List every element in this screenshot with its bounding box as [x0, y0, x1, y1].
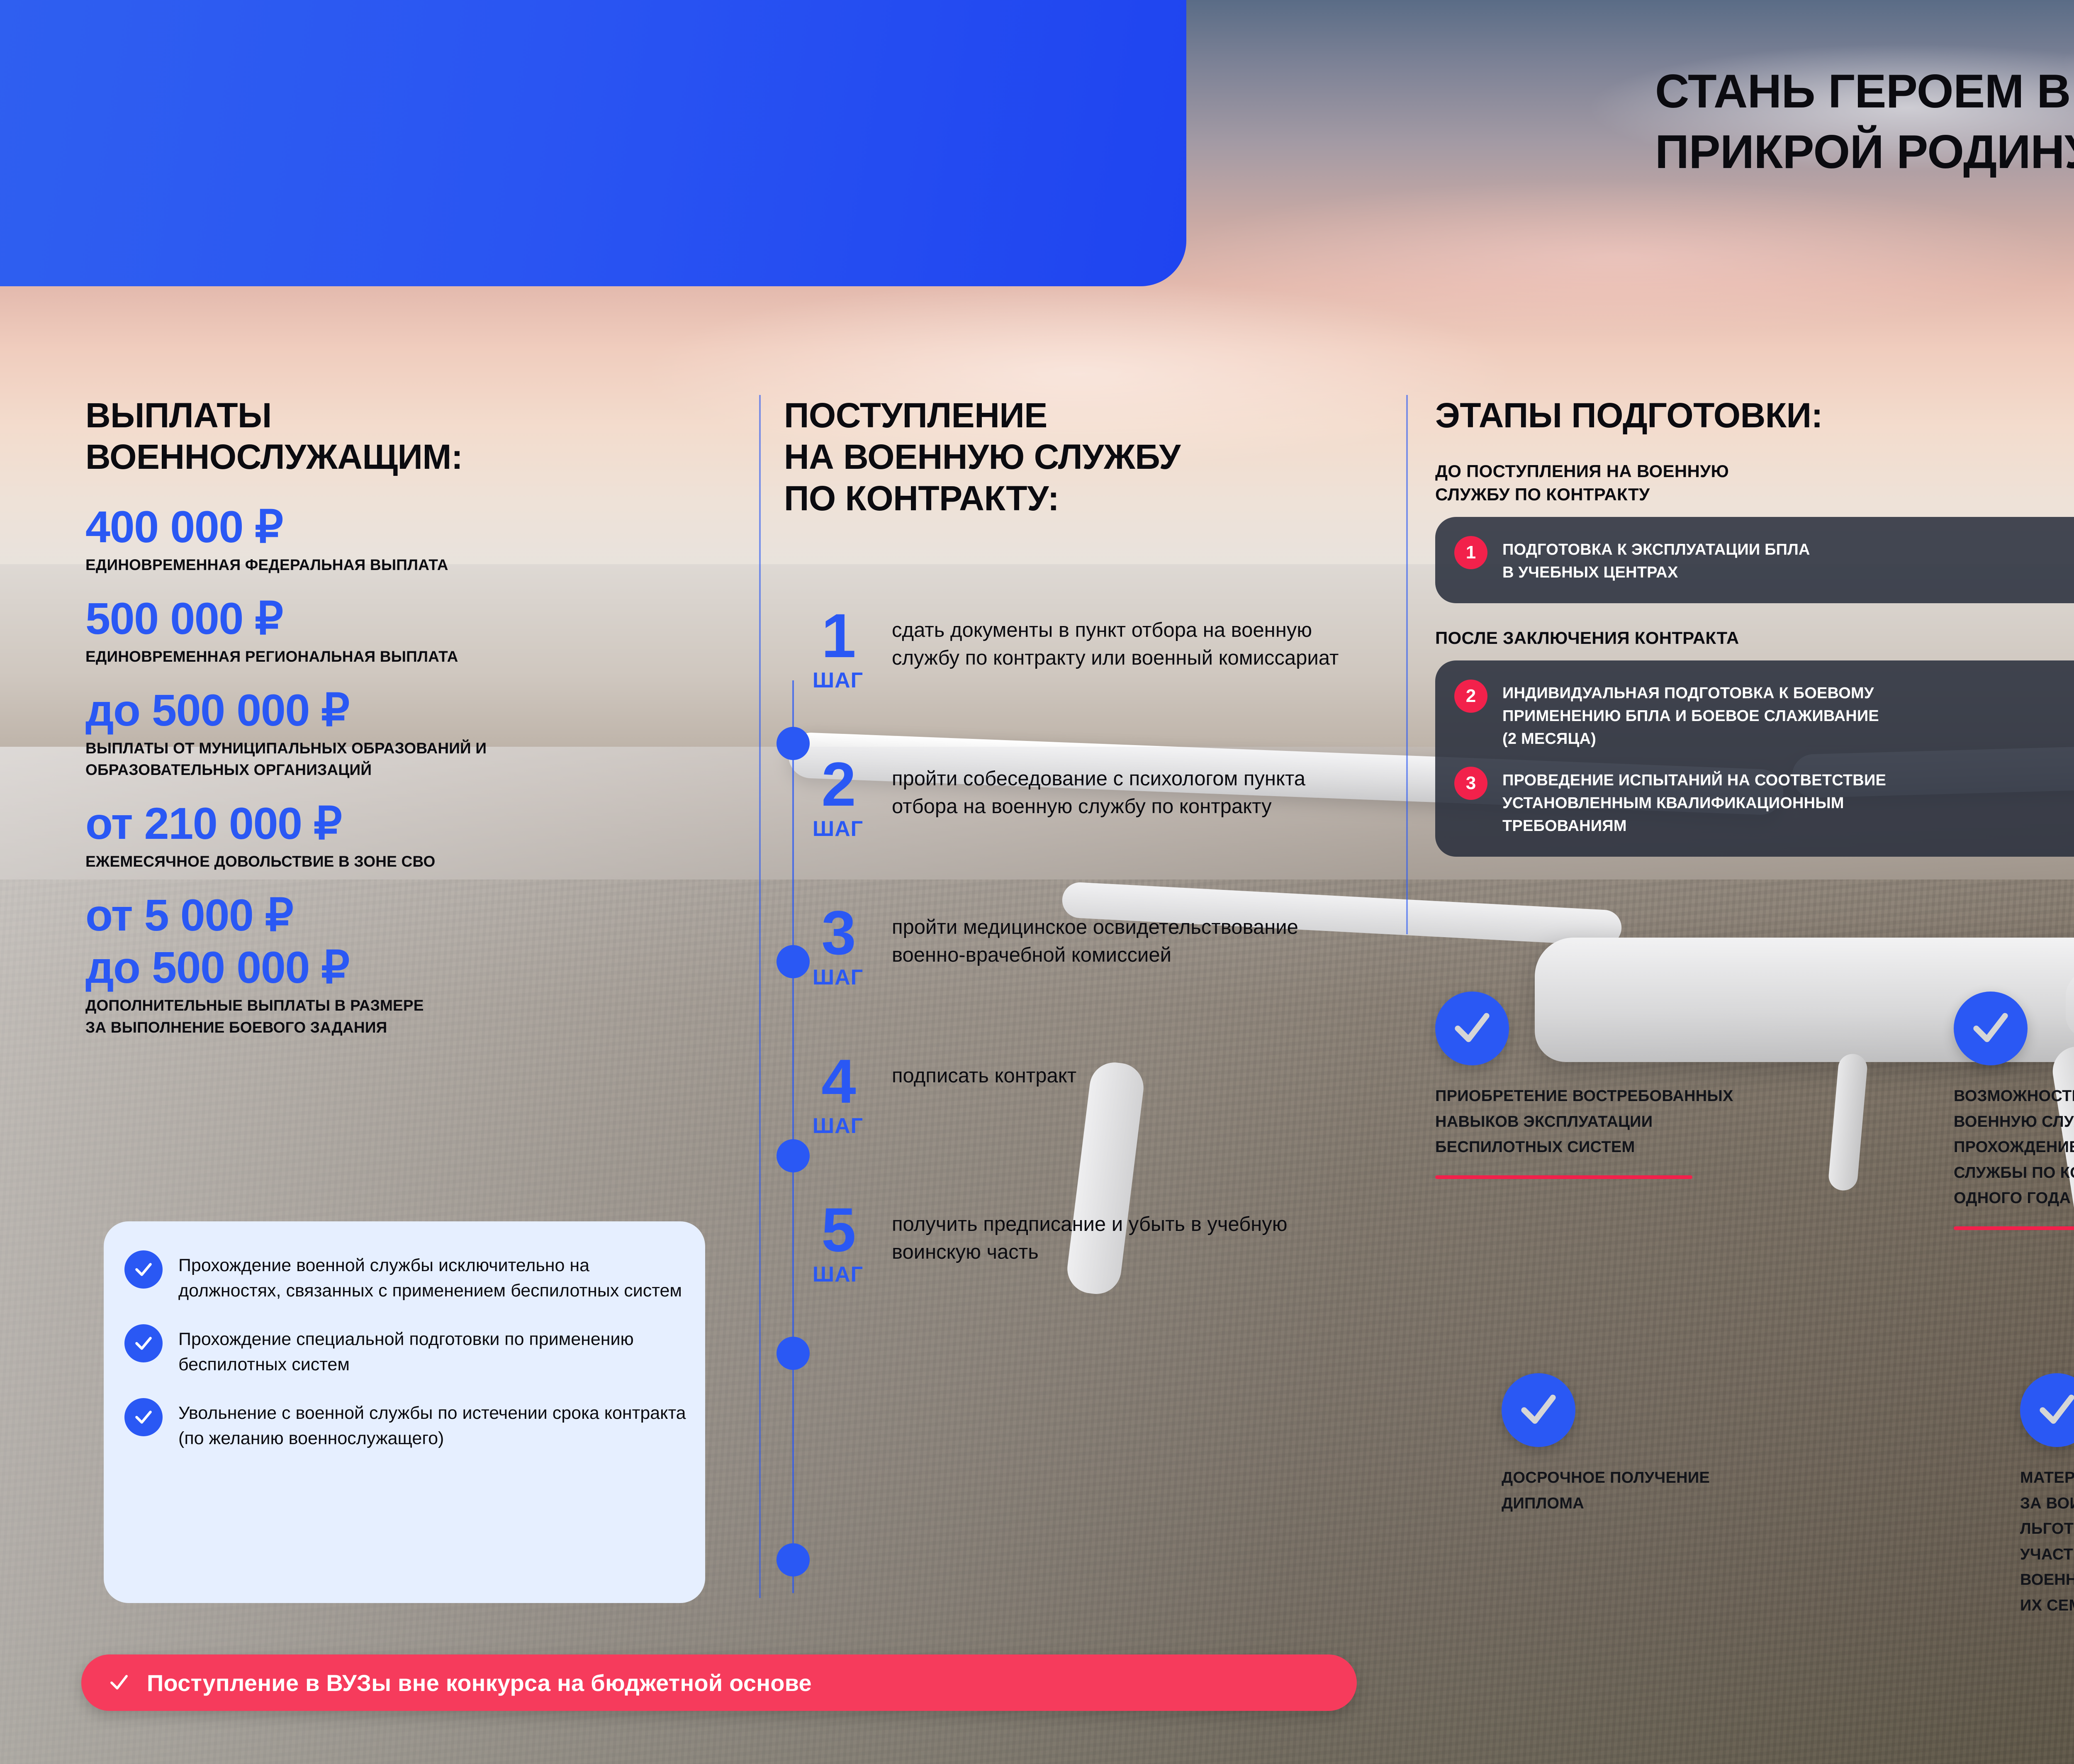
benefit-text-line: ВОЕННУЮ СЛУЖБУ ПО ПРИЗЫВУ: [1954, 1109, 2074, 1135]
enrollment-title-line-1: ПОСТУПЛЕНИЕ: [784, 395, 1348, 436]
benefit-rule: [1435, 1175, 1692, 1179]
stage-text: ПОДГОТОВКА К ЭКСПЛУАТАЦИИ БпЛА В УЧЕБНЫХ…: [1502, 536, 1810, 584]
payment-amount: 500 000 ₽: [85, 595, 708, 642]
benefit-text-line: УЧАСТНИКАМ СПЕЦИАЛЬНОЙ: [2020, 1542, 2074, 1568]
step-item: 4 ШАГ подписать контракт: [784, 1051, 1365, 1138]
tagline-line-1: СТАНЬ ГЕРОЕМ В РЕАЛЬНОЙ ЖИЗНИ!: [1655, 61, 2074, 122]
step-text: пройти собеседование с психологом пункта…: [892, 754, 1365, 820]
check-icon: [124, 1398, 163, 1436]
benefit-text-line: ОДНОГО ГОДА: [1954, 1186, 2074, 1211]
check-icon: [2020, 1373, 2074, 1447]
stage-number-badge: 3: [1454, 767, 1487, 800]
training-before-heading: ДО ПОСТУПЛЕНИЯ НА ВОЕННУЮ СЛУЖБУ ПО КОНТ…: [1435, 460, 2074, 507]
payment-description: ЕДИНОВРЕМЕННАЯ РЕГИОНАЛЬНАЯ ВЫПЛАТА: [85, 646, 708, 668]
payment-description: ДОПОЛНИТЕЛЬНЫЕ ВЫПЛАТЫ В РАЗМЕРЕ ЗА ВЫПО…: [85, 995, 708, 1038]
column-divider: [1406, 395, 1408, 934]
step-word: ШАГ: [784, 668, 892, 693]
training-before-heading-line-1: ДО ПОСТУПЛЕНИЯ НА ВОЕННУЮ: [1435, 460, 2074, 483]
tagline: СТАНЬ ГЕРОЕМ В РЕАЛЬНОЙ ЖИЗНИ! ПРИКРОЙ Р…: [1655, 61, 2074, 183]
benefit-item: ПРИОБРЕТЕНИЕ ВОСТРЕБОВАННЫХ НАВЫКОВ ЭКСП…: [1435, 992, 1833, 1179]
payment-item: до 500 000 ₽ ВЫПЛАТЫ ОТ МУНИЦИПАЛЬНЫХ ОБ…: [85, 687, 708, 781]
step-number: 4: [784, 1051, 892, 1111]
stage-text-line: ПРОВЕДЕНИЕ ИСПЫТАНИЙ НА СООТВЕТСТВИЕ: [1502, 769, 1886, 792]
stage-text: ИНДИВИДУАЛЬНАЯ ПОДГОТОВКА К БОЕВОМУ ПРИМ…: [1502, 680, 1879, 750]
step-word: ШАГ: [784, 816, 892, 841]
payment-amount: от 210 000 ₽: [85, 800, 708, 847]
benefit-text: ДОСРОЧНОЕ ПОЛУЧЕНИЕ ДИПЛОМА: [1502, 1465, 1900, 1516]
benefit-text-line: СЛУЖБЫ ПО КОНТРАКТУ В ТЕЧЕНИЕ: [1954, 1160, 2074, 1186]
condition-item: Увольнение с военной службы по истечении…: [124, 1398, 689, 1451]
stage-number-badge: 1: [1454, 536, 1487, 569]
benefit-text-line: ЛЬГОТЫ, ПРЕДОСТАВЛЯЕМЫЕ: [2020, 1516, 2074, 1542]
stage-text-line: ПОДГОТОВКА К ЭКСПЛУАТАЦИИ БпЛА: [1502, 538, 1810, 561]
benefit-text-line: ПРОХОЖДЕНИЕМ ВОЕННОЙ: [1954, 1135, 2074, 1160]
benefit-text-line: ДИПЛОМА: [1502, 1491, 1900, 1517]
training-before-card: 1 ПОДГОТОВКА К ЭКСПЛУАТАЦИИ БпЛА В УЧЕБН…: [1435, 517, 2074, 603]
check-icon: [124, 1250, 163, 1289]
conditions-list: Прохождение военной службы исключительно…: [124, 1250, 689, 1472]
check-icon: [1502, 1373, 1575, 1447]
column-divider: [759, 395, 761, 1598]
payment-item: 500 000 ₽ ЕДИНОВРЕМЕННАЯ РЕГИОНАЛЬНАЯ ВЫ…: [85, 595, 708, 668]
stage-number-badge: 2: [1454, 680, 1487, 713]
condition-item: Прохождение специальной подготовки по пр…: [124, 1324, 689, 1377]
payment-description-line: ВЫПЛАТЫ ОТ МУНИЦИПАЛЬНЫХ ОБРАЗОВАНИЙ И: [85, 738, 708, 760]
stage-text-line: ИНДИВИДУАЛЬНАЯ ПОДГОТОВКА К БОЕВОМУ: [1502, 682, 1879, 705]
benefit-rule: [1954, 1226, 2074, 1230]
training-before-heading-line-2: СЛУЖБУ ПО КОНТРАКТУ: [1435, 483, 2074, 506]
condition-text: Увольнение с военной службы по истечении…: [178, 1398, 689, 1451]
stage-text-line: ПРИМЕНЕНИЮ БпЛА И БОЕВОЕ СЛАЖИВАНИЕ: [1502, 705, 1879, 728]
poster-root: СЛУЖБА В ВОЙСКАХ БЕСПИЛОТНЫХ СИСТЕМ СТАН…: [0, 0, 2074, 1764]
payments-title-line-2: ВОЕННОСЛУЖАЩИМ:: [85, 436, 708, 478]
header-banner: [0, 0, 1186, 286]
tagline-line-2: ПРИКРОЙ РОДИНУ СВОИМ КРЫЛОМ!: [1655, 122, 2074, 183]
step-badge: 5 ШАГ: [784, 1200, 892, 1287]
payment-description-line: ЕДИНОВРЕМЕННАЯ РЕГИОНАЛЬНАЯ ВЫПЛАТА: [85, 648, 458, 665]
payments-title: ВЫПЛАТЫ ВОЕННОСЛУЖАЩИМ:: [85, 395, 708, 478]
benefit-text-line: НАВЫКОВ ЭКСПЛУАТАЦИИ: [1435, 1109, 1833, 1135]
payments-title-line-1: ВЫПЛАТЫ: [85, 395, 708, 436]
stage-text-line: (2 МЕСЯЦА): [1502, 728, 1879, 750]
stage-text-line: В УЧЕБНЫХ ЦЕНТРАХ: [1502, 561, 1810, 584]
payment-item: от 210 000 ₽ ЕЖЕМЕСЯЧНОЕ ДОВОЛЬСТВИЕ В З…: [85, 800, 708, 873]
benefit-text: ПРИОБРЕТЕНИЕ ВОСТРЕБОВАННЫХ НАВЫКОВ ЭКСП…: [1435, 1084, 1833, 1160]
payment-item: от 5 000 ₽: [85, 892, 708, 938]
benefit-text-line: БЕСПИЛОТНЫХ СИСТЕМ: [1435, 1135, 1833, 1160]
step-text: получить предписание и убыть в учебную в…: [892, 1200, 1365, 1266]
training-stage-item: 3 ПРОВЕДЕНИЕ ИСПЫТАНИЙ НА СООТВЕТСТВИЕ У…: [1454, 767, 2074, 837]
bottom-banner-text: Поступление в ВУЗы вне конкурса на бюдже…: [147, 1669, 812, 1696]
payment-description-line: ОБРАЗОВАТЕЛЬНЫХ ОРГАНИЗАЦИЙ: [85, 759, 708, 781]
step-text: подписать контракт: [892, 1051, 1365, 1090]
payment-description-line: ЗА ВЫПОЛНЕНИЕ БОЕВОГО ЗАДАНИЯ: [85, 1017, 708, 1039]
training-after-card: 2 ИНДИВИДУАЛЬНАЯ ПОДГОТОВКА К БОЕВОМУ ПР…: [1435, 660, 2074, 856]
stage-text-line: УСТАНОВЛЕННЫМ КВАЛИФИКАЦИОННЫМ: [1502, 792, 1886, 815]
timeline-dot: [777, 1543, 810, 1576]
benefit-text-line: ВОЗМОЖНОСТЬ ЗАМЕНИТЬ: [1954, 1084, 2074, 1109]
condition-text: Прохождение специальной подготовки по пр…: [178, 1324, 689, 1377]
step-number: 2: [784, 754, 892, 814]
payment-description-line: ЕДИНОВРЕМЕННАЯ ФЕДЕРАЛЬНАЯ ВЫПЛАТА: [85, 556, 448, 573]
step-number: 1: [784, 606, 892, 665]
step-text: пройти медицинское освидетельствование в…: [892, 903, 1365, 969]
benefit-text-line: ВОЕННОЙ ОПЕРАЦИИИ ЧЛЕНАМ: [2020, 1567, 2074, 1593]
training-after-heading: ПОСЛЕ ЗАКЛЮЧЕНИЯ КОНТРАКТА: [1435, 626, 2074, 650]
condition-text: Прохождение военной службы исключительно…: [178, 1250, 689, 1304]
check-icon: [1954, 992, 2028, 1065]
steps-list: 1 ШАГ сдать документы в пункт отбора на …: [784, 606, 1365, 1287]
payment-amount: от 5 000 ₽: [85, 892, 708, 938]
check-icon: [1435, 992, 1509, 1065]
payment-description-line: ЕЖЕМЕСЯЧНОЕ ДОВОЛЬСТВИЕ В ЗОНЕ СВО: [85, 853, 435, 870]
step-text: сдать документы в пункт отбора на военну…: [892, 606, 1365, 672]
payment-amount: до 500 000 ₽: [85, 944, 708, 991]
stage-text-line: ТРЕБОВАНИЯМ: [1502, 815, 1886, 838]
enrollment-title: ПОСТУПЛЕНИЕ НА ВОЕННУЮ СЛУЖБУ ПО КОНТРАК…: [784, 395, 1348, 519]
payments-list: 400 000 ₽ ЕДИНОВРЕМЕННАЯ ФЕДЕРАЛЬНАЯ ВЫП…: [85, 504, 708, 1039]
benefit-text-line: ЗА ВОИНСКИЙ ТРУД, А ТАКЖЕ: [2020, 1491, 2074, 1517]
step-badge: 3 ШАГ: [784, 903, 892, 990]
payment-description-line: ДОПОЛНИТЕЛЬНЫЕ ВЫПЛАТЫ В РАЗМЕРЕ: [85, 995, 708, 1017]
step-word: ШАГ: [784, 1262, 892, 1287]
benefit-text-line: ДОСРОЧНОЕ ПОЛУЧЕНИЕ: [1502, 1465, 1900, 1491]
step-badge: 1 ШАГ: [784, 606, 892, 693]
step-number: 3: [784, 903, 892, 962]
training-title: ЭТАПЫ ПОДГОТОВКИ:: [1435, 395, 2074, 436]
benefit-item: ДОСРОЧНОЕ ПОЛУЧЕНИЕ ДИПЛОМА: [1502, 1373, 1900, 1516]
step-word: ШАГ: [784, 965, 892, 990]
enrollment-title-line-2: НА ВОЕННУЮ СЛУЖБУ: [784, 436, 1348, 478]
payment-description: ЕЖЕМЕСЯЧНОЕ ДОВОЛЬСТВИЕ В ЗОНЕ СВО: [85, 851, 708, 873]
training-title-text: ЭТАПЫ ПОДГОТОВКИ:: [1435, 395, 2074, 436]
timeline-dot: [777, 1337, 810, 1370]
condition-item: Прохождение военной службы исключительно…: [124, 1250, 689, 1304]
step-item: 1 ШАГ сдать документы в пункт отбора на …: [784, 606, 1365, 693]
step-badge: 2 ШАГ: [784, 754, 892, 841]
step-badge: 4 ШАГ: [784, 1051, 892, 1138]
step-item: 2 ШАГ пройти собеседование с психологом …: [784, 754, 1365, 841]
bottom-banner: Поступление в ВУЗы вне конкурса на бюдже…: [81, 1654, 1357, 1711]
payment-item: 400 000 ₽ ЕДИНОВРЕМЕННАЯ ФЕДЕРАЛЬНАЯ ВЫП…: [85, 504, 708, 576]
step-number: 5: [784, 1200, 892, 1260]
check-icon: [124, 1324, 163, 1362]
check-icon: [108, 1671, 130, 1694]
payment-amount: до 500 000 ₽: [85, 687, 708, 733]
payment-amount: 400 000 ₽: [85, 504, 708, 550]
training-column: ЭТАПЫ ПОДГОТОВКИ: ДО ПОСТУПЛЕНИЯ НА ВОЕН…: [1435, 395, 2074, 857]
stage-text: ПРОВЕДЕНИЕ ИСПЫТАНИЙ НА СООТВЕТСТВИЕ УСТ…: [1502, 767, 1886, 837]
payments-column: ВЫПЛАТЫ ВОЕННОСЛУЖАЩИМ: 400 000 ₽ ЕДИНОВ…: [85, 395, 708, 1058]
benefit-text: ВОЗМОЖНОСТЬ ЗАМЕНИТЬ ВОЕННУЮ СЛУЖБУ ПО П…: [1954, 1084, 2074, 1211]
step-word: ШАГ: [784, 1113, 892, 1138]
benefit-text-line: ИХ СЕМЕЙ: [2020, 1593, 2074, 1619]
step-item: 3 ШАГ пройти медицинское освидетельствов…: [784, 903, 1365, 990]
benefit-item: МАТЕРИАЛЬНОЕ ВОЗНАГРАЖДЕНИЕ ЗА ВОИНСКИЙ …: [2020, 1373, 2074, 1618]
benefit-text-line: ПРИОБРЕТЕНИЕ ВОСТРЕБОВАННЫХ: [1435, 1084, 1833, 1109]
benefit-text-line: МАТЕРИАЛЬНОЕ ВОЗНАГРАЖДЕНИЕ: [2020, 1465, 2074, 1491]
step-item: 5 ШАГ получить предписание и убыть в уче…: [784, 1200, 1365, 1287]
payment-item: до 500 000 ₽ ДОПОЛНИТЕЛЬНЫЕ ВЫПЛАТЫ В РА…: [85, 944, 708, 1038]
payment-description: ВЫПЛАТЫ ОТ МУНИЦИПАЛЬНЫХ ОБРАЗОВАНИЙ И О…: [85, 738, 708, 781]
enrollment-title-line-3: ПО КОНТРАКТУ:: [784, 478, 1348, 519]
training-stage-item: 1 ПОДГОТОВКА К ЭКСПЛУАТАЦИИ БпЛА В УЧЕБН…: [1454, 536, 2074, 584]
training-after-heading-text: ПОСЛЕ ЗАКЛЮЧЕНИЯ КОНТРАКТА: [1435, 626, 2074, 650]
training-stage-item: 2 ИНДИВИДУАЛЬНАЯ ПОДГОТОВКА К БОЕВОМУ ПР…: [1454, 680, 2074, 750]
benefit-text: МАТЕРИАЛЬНОЕ ВОЗНАГРАЖДЕНИЕ ЗА ВОИНСКИЙ …: [2020, 1465, 2074, 1618]
benefit-item: ВОЗМОЖНОСТЬ ЗАМЕНИТЬ ВОЕННУЮ СЛУЖБУ ПО П…: [1954, 992, 2074, 1230]
enrollment-column: ПОСТУПЛЕНИЕ НА ВОЕННУЮ СЛУЖБУ ПО КОНТРАК…: [784, 395, 1348, 519]
payment-description: ЕДИНОВРЕМЕННАЯ ФЕДЕРАЛЬНАЯ ВЫПЛАТА: [85, 554, 708, 576]
